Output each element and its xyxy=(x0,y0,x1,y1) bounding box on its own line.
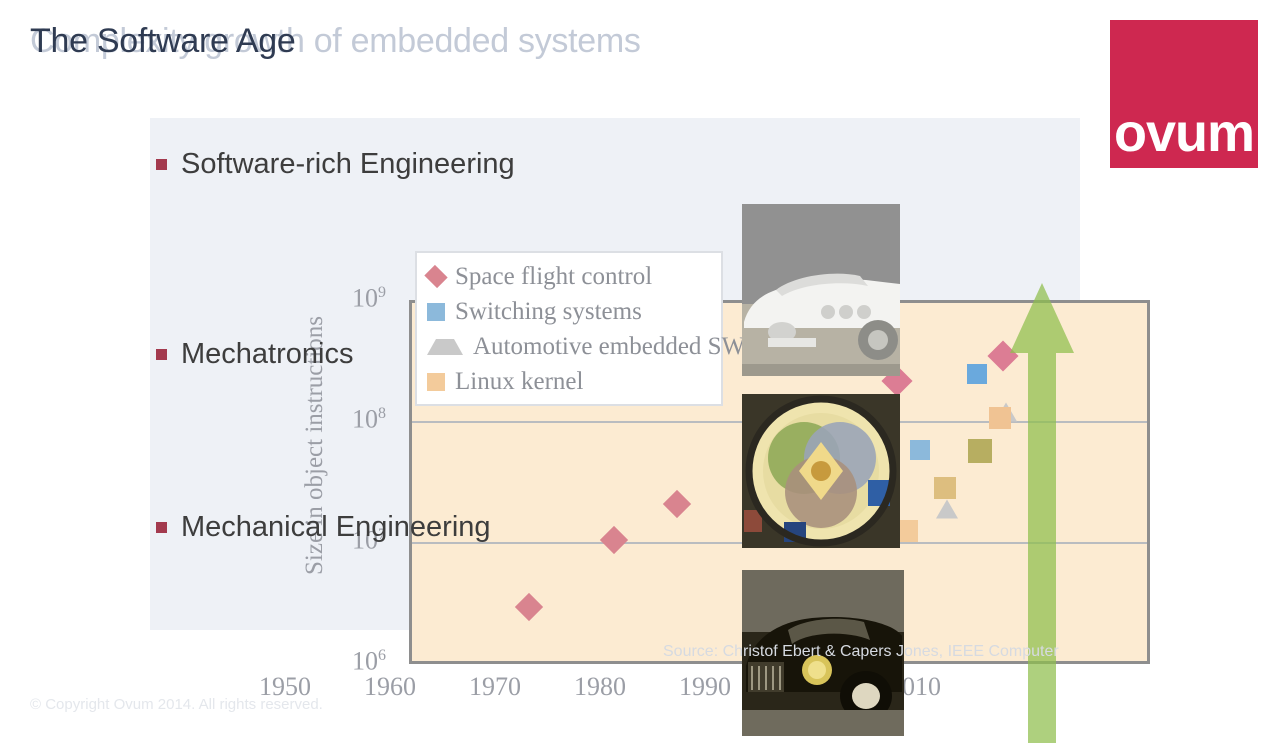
diamond-marker-icon xyxy=(424,265,447,288)
data-point-linux-kernel xyxy=(934,477,956,499)
list-item: Mechanical Engineering xyxy=(156,513,491,542)
ovum-logo-text: ovum xyxy=(1110,106,1258,160)
mechatronics-wheel-illustration xyxy=(742,394,900,548)
square-marker-icon xyxy=(427,303,445,321)
page-title: The Software Age xyxy=(30,22,295,61)
bullet-square-icon xyxy=(156,349,167,360)
legend-label: Space flight control xyxy=(455,264,652,289)
list-item: Mechatronics xyxy=(156,340,353,369)
legend-item-space-flight-control: Space flight control xyxy=(427,259,711,294)
source-note: Source: Christof Ebert & Capers Jones, I… xyxy=(663,643,1059,661)
data-point-switching-systems xyxy=(967,364,987,384)
triangle-marker-icon xyxy=(427,339,463,355)
legend-label: Switching systems xyxy=(455,299,642,324)
legend-label: Linux kernel xyxy=(455,369,583,394)
legend-item-automotive-embedded-sw: Automotive embedded SW xyxy=(427,329,711,364)
legend-item-linux-kernel: Linux kernel xyxy=(427,364,711,399)
list-item-label: Mechanical Engineering xyxy=(181,513,491,542)
data-point-linux-kernel xyxy=(968,439,992,463)
photo-modern-luxury-car xyxy=(742,204,900,376)
y-tick-1e9: 109 xyxy=(352,285,386,312)
modern-car-illustration xyxy=(742,204,900,376)
copyright-notice: © Copyright Ovum 2014. All rights reserv… xyxy=(30,696,323,713)
chart-panel: Size in object instructions 109 108 107 … xyxy=(150,118,1080,630)
list-item: Software-rich Engineering xyxy=(156,150,515,179)
photo-mechatronics-wheel xyxy=(742,394,900,548)
legend-item-switching-systems: Switching systems xyxy=(427,294,711,329)
x-tick-1960: 1960 xyxy=(364,674,416,700)
chart-legend: Space flight control Switching systems A… xyxy=(415,251,723,406)
growth-arrow-icon xyxy=(1010,283,1074,743)
data-point-switching-systems xyxy=(910,440,930,460)
slide-title: Complexity growth of embedded systems Th… xyxy=(0,22,1090,82)
x-tick-1990: 1990 xyxy=(679,674,731,700)
data-point-linux-kernel xyxy=(989,407,1011,429)
y-tick-1e6: 106 xyxy=(352,648,386,675)
square-marker-icon xyxy=(427,373,445,391)
list-item-label: Mechatronics xyxy=(181,340,353,369)
y-tick-1e8: 108 xyxy=(352,406,386,433)
list-item-label: Software-rich Engineering xyxy=(181,150,515,179)
bullet-square-icon xyxy=(156,159,167,170)
data-point-automotive-embedded-sw xyxy=(936,500,958,519)
x-tick-1980: 1980 xyxy=(574,674,626,700)
bullet-square-icon xyxy=(156,522,167,533)
x-tick-1970: 1970 xyxy=(469,674,521,700)
ovum-logo: ovum xyxy=(1110,20,1258,168)
legend-label: Automotive embedded SW xyxy=(473,334,745,359)
